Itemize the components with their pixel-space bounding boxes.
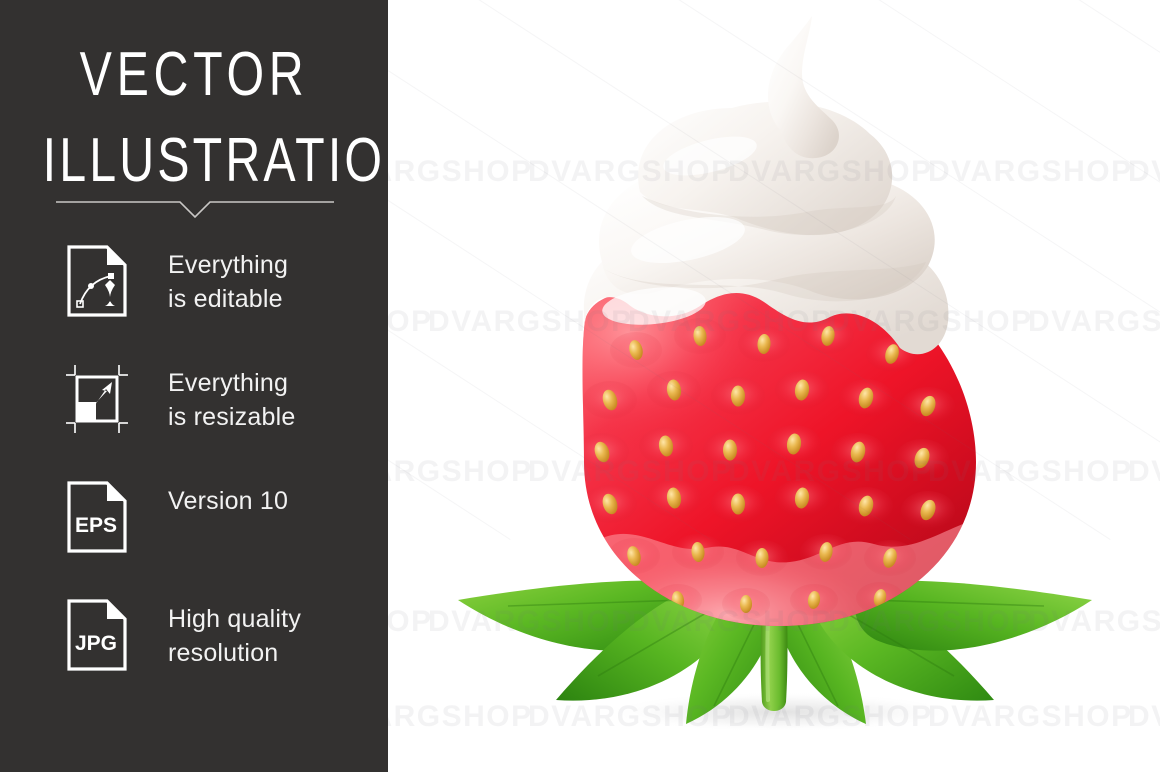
feature-text-eps-version: Version 10: [168, 484, 378, 518]
feature-line-2: is resizable: [168, 400, 378, 434]
feature-line-1: High quality: [168, 602, 378, 636]
info-sidebar: VECTOR ILLUSTRATION: [0, 0, 388, 772]
feature-text-editable: Everything is editable: [168, 248, 378, 316]
feature-line-2: resolution: [168, 636, 378, 670]
jpg-file-icon: JPG: [66, 598, 128, 672]
feature-line-1: Everything: [168, 366, 378, 400]
preview-stage: VECTOR ILLUSTRATION: [0, 0, 1160, 772]
eps-file-icon: EPS: [66, 480, 128, 554]
document-pen-tool-icon: [66, 244, 128, 318]
feature-text-resizable: Everything is resizable: [168, 366, 378, 434]
feature-item-jpg-quality: JPG High quality resolution: [0, 598, 388, 716]
eps-label: EPS: [75, 514, 117, 537]
strawberry-with-whipped-cream-illustration: [388, 0, 1160, 772]
v-notch-divider: [56, 197, 334, 219]
page-title-line-1: VECTOR: [43, 44, 346, 106]
feature-text-jpg-quality: High quality resolution: [168, 602, 378, 670]
resize-frame-arrow-icon: [66, 362, 128, 436]
page-title-line-2: ILLUSTRATION: [43, 130, 346, 192]
feature-line-1: Version 10: [168, 484, 378, 518]
jpg-label: JPG: [75, 632, 117, 655]
feature-line-2: is editable: [168, 282, 378, 316]
feature-line-1: Everything: [168, 248, 378, 282]
feature-item-resizable: Everything is resizable: [0, 362, 388, 480]
feature-list: Everything is editable: [0, 244, 388, 716]
artwork-panel: [388, 0, 1160, 772]
feature-item-eps-version: EPS Version 10: [0, 480, 388, 598]
feature-item-editable: Everything is editable: [0, 244, 388, 362]
title-block: VECTOR ILLUSTRATION: [0, 44, 388, 192]
whipped-cream: [584, 16, 949, 354]
